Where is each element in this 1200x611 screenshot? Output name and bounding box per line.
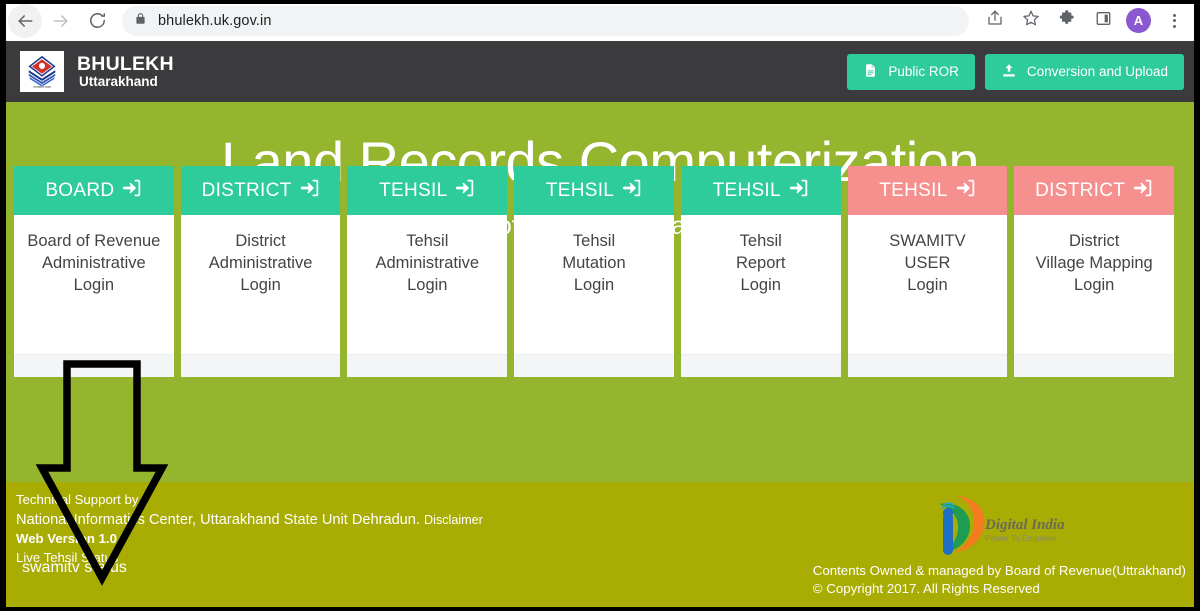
window-frame-right xyxy=(1194,0,1200,611)
card-header-label: TEHSIL xyxy=(879,180,947,202)
conversion-upload-label: Conversion and Upload xyxy=(1027,64,1168,79)
card-body-text: Tehsil Mutation Login xyxy=(514,215,674,354)
card-body-text: Tehsil Report Login xyxy=(681,215,841,354)
footer-support-info: Technical Support by National Informatic… xyxy=(16,491,483,568)
brand-subtitle: Uttarakhand xyxy=(79,75,174,89)
card-header-label: DISTRICT xyxy=(202,180,292,202)
sign-in-icon xyxy=(300,179,320,203)
card-header[interactable]: TEHSIL xyxy=(848,166,1008,215)
card-footer xyxy=(1014,354,1174,377)
site-footer: Technical Support by National Informatic… xyxy=(6,482,1194,607)
card-body-text: District Administrative Login xyxy=(181,215,341,354)
card-footer xyxy=(181,354,341,377)
brand[interactable]: उत्तराखण्ड शासन BHULEKH Uttarakhand xyxy=(20,51,174,92)
card-header-label: TEHSIL xyxy=(379,180,447,202)
share-button[interactable] xyxy=(980,6,1010,36)
reload-button[interactable] xyxy=(80,4,114,38)
brand-title: BHULEKH xyxy=(77,54,174,74)
chrome-actions: A xyxy=(977,6,1192,36)
browser-toolbar: bhulekh.uk.gov.in xyxy=(0,0,1200,41)
card-header[interactable]: TEHSIL xyxy=(514,166,674,215)
disclaimer-link[interactable]: Disclaimer xyxy=(424,513,483,527)
card-footer xyxy=(681,354,841,377)
bookmark-button[interactable] xyxy=(1016,6,1046,36)
sign-in-icon xyxy=(956,179,976,203)
card-body-text: SWAMITV USER Login xyxy=(848,215,1008,354)
puzzle-piece-icon xyxy=(1058,9,1076,32)
document-icon xyxy=(863,62,878,82)
address-bar[interactable]: bhulekh.uk.gov.in xyxy=(122,6,969,36)
side-panel-icon xyxy=(1095,10,1112,32)
svg-text:Digital India: Digital India xyxy=(984,517,1065,533)
svg-text:उत्तराखण्ड शासन: उत्तराखण्ड शासन xyxy=(33,85,51,89)
web-version-label: Web Version 1.0 xyxy=(16,530,483,549)
url-text: bhulekh.uk.gov.in xyxy=(158,13,271,29)
login-card-tehsil-administrative[interactable]: TEHSIL Tehsil Administrative Login xyxy=(347,166,507,377)
profile-avatar[interactable]: A xyxy=(1126,8,1151,33)
arrow-right-icon xyxy=(51,11,71,31)
three-dot-menu-icon xyxy=(1173,14,1176,28)
side-panel-button[interactable] xyxy=(1088,6,1118,36)
svg-text:Power To Empower: Power To Empower xyxy=(985,533,1058,543)
extensions-button[interactable] xyxy=(1052,6,1082,36)
digital-india-logo-icon: Digital India Power To Empower xyxy=(813,488,1186,558)
public-ror-label: Public ROR xyxy=(888,64,959,79)
card-header-label: TEHSIL xyxy=(546,180,614,202)
screenshot-root: bhulekh.uk.gov.in xyxy=(0,0,1200,611)
login-card-tehsil-report[interactable]: TEHSIL Tehsil Report Login xyxy=(681,166,841,377)
header-actions: Public ROR Conversion and Upload xyxy=(847,54,1184,90)
public-ror-button[interactable]: Public ROR xyxy=(847,54,975,90)
card-header[interactable]: DISTRICT xyxy=(1014,166,1174,215)
card-header[interactable]: TEHSIL xyxy=(347,166,507,215)
site-header: उत्तराखण्ड शासन BHULEKH Uttarakhand xyxy=(6,41,1194,102)
login-card-swamitv-user[interactable]: TEHSIL SWAMITV USER Login xyxy=(848,166,1008,377)
card-footer xyxy=(848,354,1008,377)
card-footer xyxy=(514,354,674,377)
star-icon xyxy=(1022,9,1040,32)
card-body-text: Tehsil Administrative Login xyxy=(347,215,507,354)
back-button[interactable] xyxy=(8,4,42,38)
card-header[interactable]: TEHSIL xyxy=(681,166,841,215)
login-card-grid: BOARD Board of Revenue Administrative Lo… xyxy=(14,166,1174,377)
login-card-tehsil-mutation[interactable]: TEHSIL Tehsil Mutation Login xyxy=(514,166,674,377)
arrow-left-icon xyxy=(15,11,35,31)
support-line-2: National Informatics Center, Uttarakhand… xyxy=(16,512,420,528)
swamitv-status-link[interactable]: swamitv status xyxy=(22,559,127,577)
copyright-text: Contents Owned & managed by Board of Rev… xyxy=(813,562,1186,598)
sign-in-icon xyxy=(622,179,642,203)
support-line-1: Technical Support by xyxy=(16,491,483,510)
login-card-board-administrative[interactable]: BOARD Board of Revenue Administrative Lo… xyxy=(14,166,174,377)
bhulekh-emblem-icon: उत्तराखण्ड शासन xyxy=(20,51,64,92)
card-body-text: District Village Mapping Login xyxy=(1014,215,1174,354)
card-footer xyxy=(14,354,174,377)
upload-icon xyxy=(1001,62,1017,82)
card-header-label: BOARD xyxy=(45,180,114,202)
card-footer xyxy=(347,354,507,377)
login-card-district-administrative[interactable]: DISTRICT District Administrative Login xyxy=(181,166,341,377)
card-header[interactable]: DISTRICT xyxy=(181,166,341,215)
browser-menu-button[interactable] xyxy=(1159,6,1189,36)
forward-button[interactable] xyxy=(44,4,78,38)
card-header-label: DISTRICT xyxy=(1035,180,1125,202)
window-frame-bottom xyxy=(0,607,1200,611)
card-header-label: TEHSIL xyxy=(713,180,781,202)
login-card-district-village-mapping[interactable]: DISTRICT District Village Mapping Login xyxy=(1014,166,1174,377)
sign-in-icon xyxy=(789,179,809,203)
conversion-and-upload-button[interactable]: Conversion and Upload xyxy=(985,54,1184,90)
window-frame-top xyxy=(0,0,1200,4)
sign-in-icon xyxy=(122,179,142,203)
footer-branding: Digital India Power To Empower Contents … xyxy=(813,488,1186,598)
share-icon xyxy=(986,9,1004,32)
window-frame-left xyxy=(0,0,6,611)
sign-in-icon xyxy=(1133,179,1153,203)
card-header[interactable]: BOARD xyxy=(14,166,174,215)
sign-in-icon xyxy=(455,179,475,203)
lock-icon xyxy=(134,12,147,30)
reload-icon xyxy=(88,11,107,30)
card-body-text: Board of Revenue Administrative Login xyxy=(14,215,174,354)
